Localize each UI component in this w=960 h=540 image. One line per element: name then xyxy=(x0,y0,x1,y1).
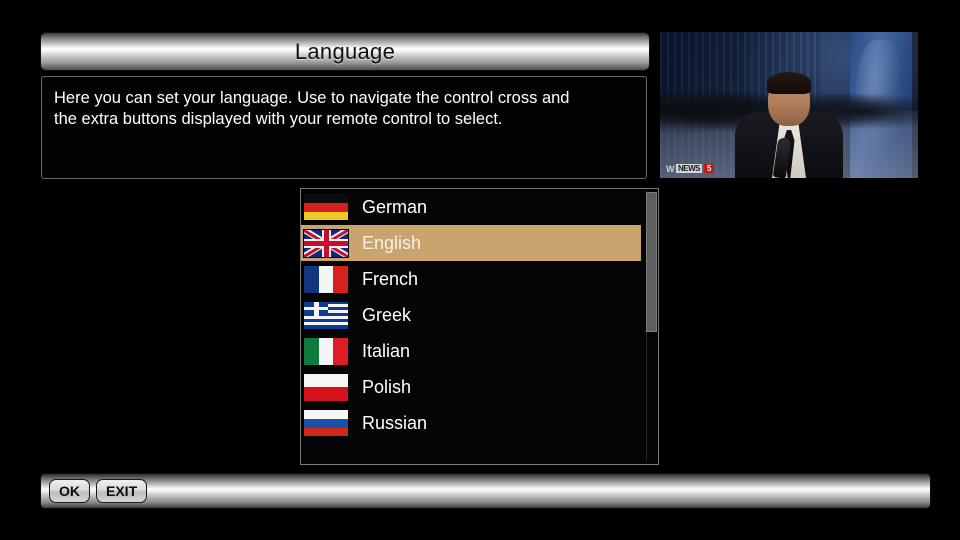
reporter-hair xyxy=(767,72,811,94)
list-item-label: Russian xyxy=(362,414,427,432)
list-item[interactable]: Polish xyxy=(301,369,644,405)
flag-de-icon xyxy=(304,194,348,221)
language-list: German English French xyxy=(301,189,644,464)
list-item-label: Greek xyxy=(362,306,411,324)
list-item-label: English xyxy=(362,234,421,252)
ok-button[interactable]: OK xyxy=(49,479,90,503)
channel-logo-part1: W xyxy=(666,164,674,174)
list-item-label: French xyxy=(362,270,418,288)
list-item[interactable]: English xyxy=(301,225,641,261)
list-item[interactable]: Russian xyxy=(301,405,644,441)
list-item[interactable]: Greek xyxy=(301,297,644,333)
flag-pl-icon xyxy=(304,374,348,401)
list-item[interactable]: Italian xyxy=(301,333,644,369)
page-title: Language xyxy=(295,41,395,63)
flag-ru-icon xyxy=(304,410,348,437)
list-item-label: Polish xyxy=(362,378,411,396)
exit-button[interactable]: EXIT xyxy=(96,479,147,503)
flag-fr-icon xyxy=(304,266,348,293)
live-tv-preview[interactable]: W NEWS 5 xyxy=(660,32,918,178)
flag-gb-icon xyxy=(304,230,348,257)
footer-bar: OK EXIT xyxy=(41,474,930,508)
description-panel: Here you can set your language. Use to n… xyxy=(41,76,647,179)
list-item[interactable]: German xyxy=(301,189,644,225)
flag-gr-icon xyxy=(304,302,348,329)
preview-reporter xyxy=(733,74,845,178)
list-item-label: German xyxy=(362,198,427,216)
description-text: Here you can set your language. Use to n… xyxy=(54,88,634,130)
vertical-scrollbar[interactable] xyxy=(643,189,658,464)
list-item-label: Italian xyxy=(362,342,410,360)
language-list-panel: German English French xyxy=(300,188,659,465)
list-item[interactable]: French xyxy=(301,261,644,297)
scrollbar-thumb[interactable] xyxy=(646,192,657,332)
channel-logo-part2: NEWS xyxy=(676,164,702,173)
page-title-bar: Language xyxy=(41,33,649,70)
flag-it-icon xyxy=(304,338,348,365)
channel-logo-part3: 5 xyxy=(704,164,714,173)
tv-settings-screen: Language Here you can set your language.… xyxy=(0,0,960,540)
channel-logo: W NEWS 5 xyxy=(666,163,714,174)
